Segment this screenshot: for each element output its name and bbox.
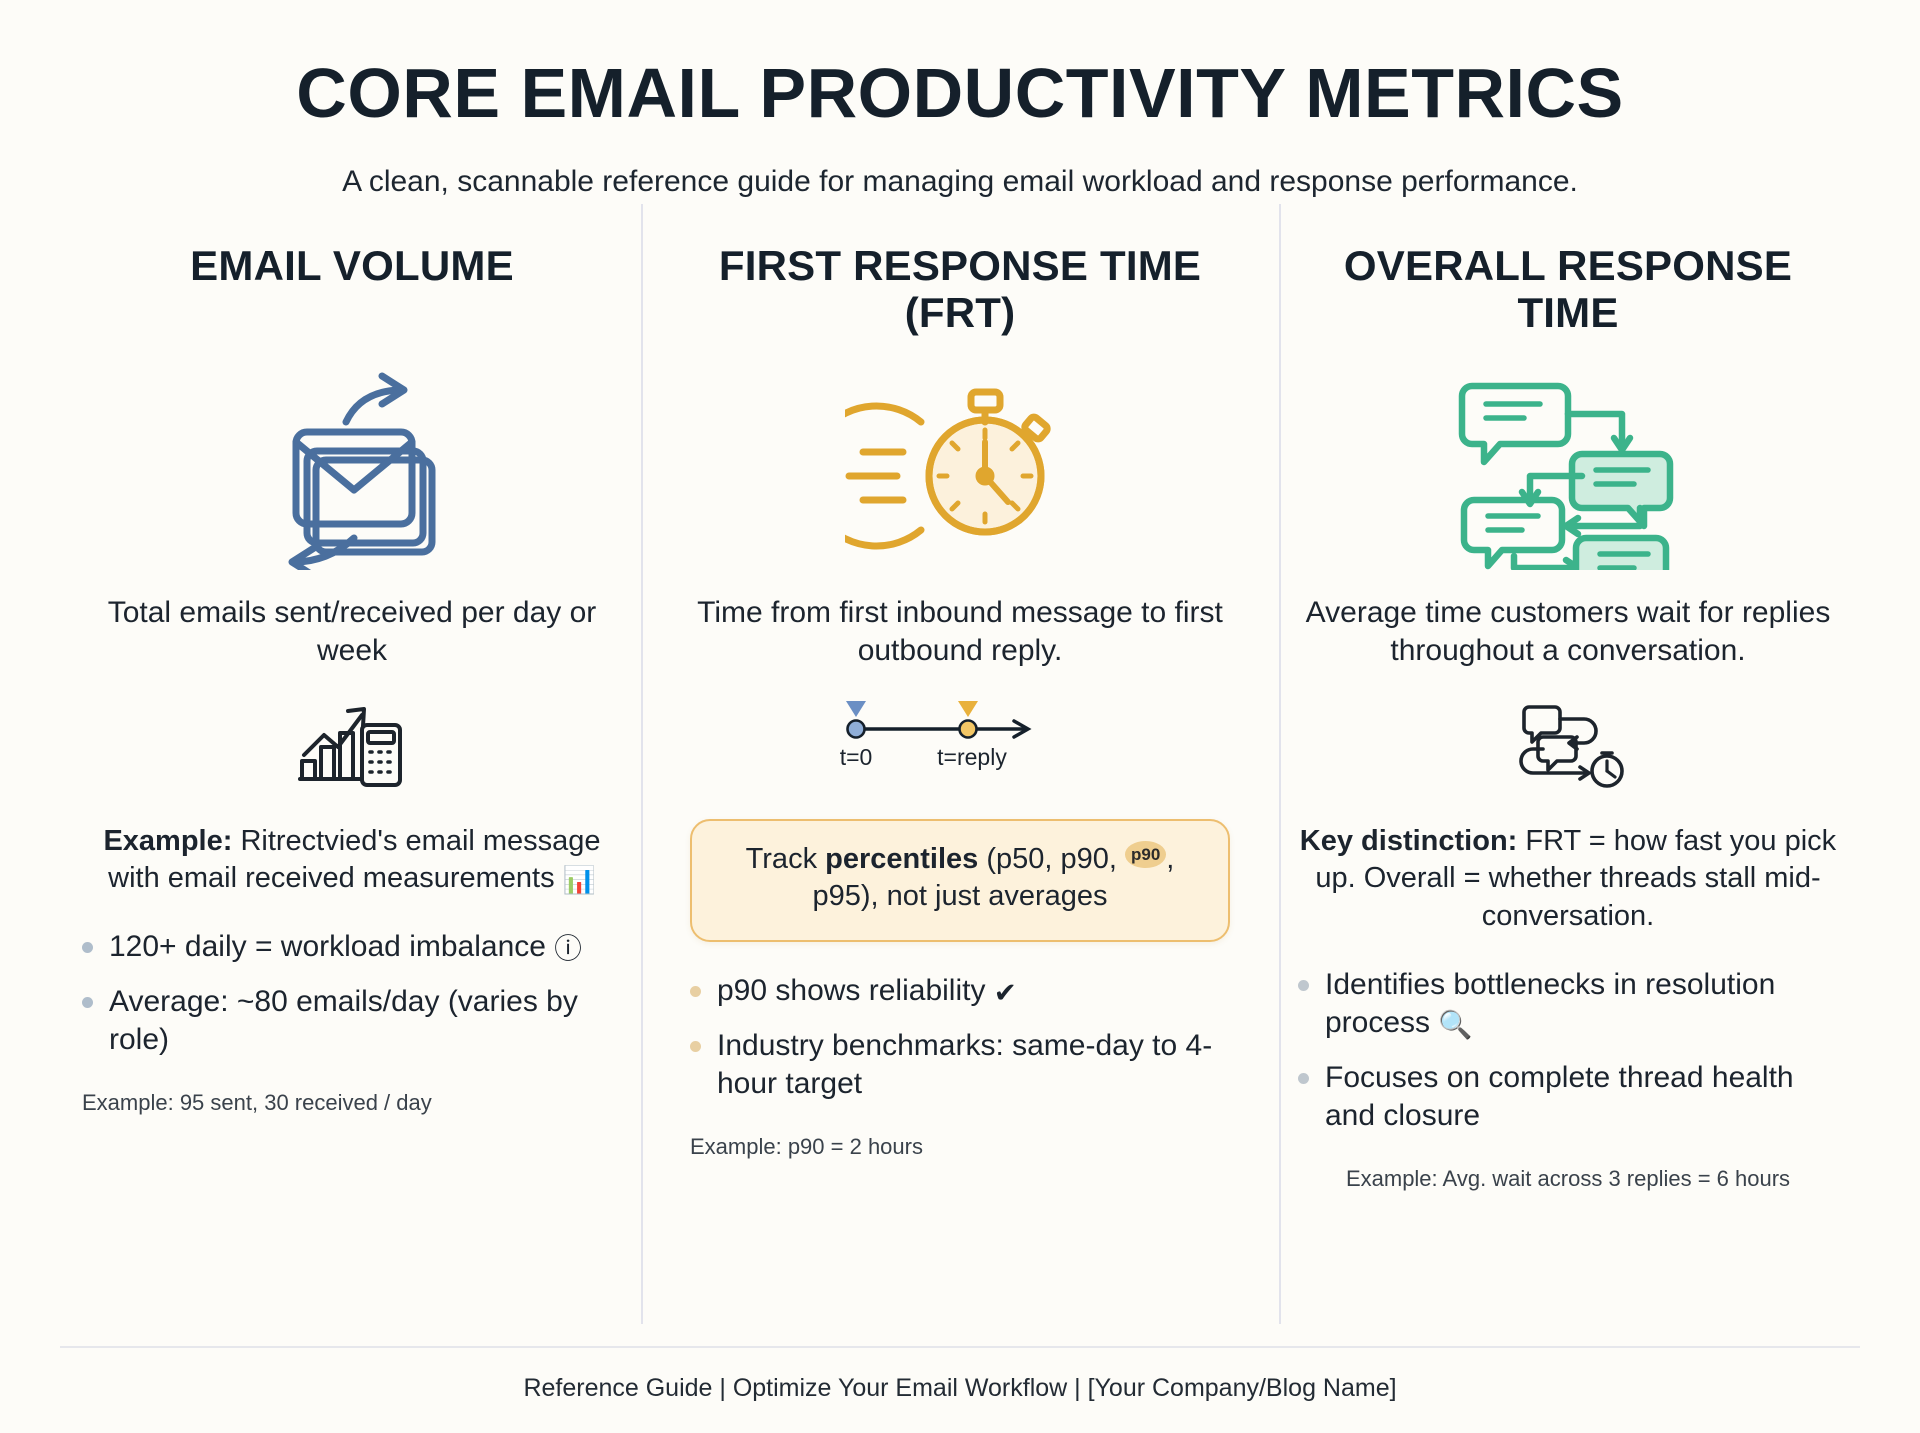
bar-chart-emoji: 📊 (563, 865, 596, 895)
magnifying-glass-icon: 🔍 (1438, 1009, 1472, 1040)
column-title-email-volume: EMAIL VOLUME (82, 242, 622, 348)
list-item: 120+ daily = workload imbalance ⓘ (82, 928, 622, 966)
warning-circle-icon: ⓘ (554, 933, 582, 964)
bullet-text: Industry benchmarks: same-day to 4-hour … (717, 1027, 1230, 1104)
list-item: Industry benchmarks: same-day to 4-hour … (690, 1027, 1230, 1104)
header: CORE EMAIL PRODUCTIVITY METRICS A clean,… (0, 0, 1920, 200)
footer: Reference Guide | Optimize Your Email Wo… (60, 1346, 1860, 1433)
list-item: Focuses on complete thread health and cl… (1298, 1059, 1838, 1136)
stopwatch-motion-icon (690, 356, 1230, 584)
bullet-dot-icon (690, 1041, 701, 1052)
bullet-dot-icon (690, 986, 701, 997)
list-item: Average: ~80 emails/day (varies by role) (82, 983, 622, 1060)
column-overall-response-time: OVERALL RESPONSE TIME (1264, 242, 1872, 1346)
callout-mid: (p50, p90, (978, 843, 1125, 875)
bullet-text: p90 shows reliability (717, 974, 994, 1007)
frt-timeline-diagram: t=0 t=reply (690, 693, 1230, 797)
bullet-dot-icon (82, 942, 93, 953)
example-first-response-time: Example: p90 = 2 hours (690, 1133, 1230, 1161)
page-subtitle: A clean, scannable reference guide for m… (60, 164, 1860, 200)
timeline-start-label: t=0 (840, 744, 873, 770)
metric-columns: EMAIL VOLUME (0, 200, 1920, 1346)
end-marker-triangle-icon (958, 701, 978, 717)
column-description-overall-response-time: Average time customers wait for replies … (1298, 594, 1838, 671)
bullet-dot-icon (82, 997, 93, 1008)
check-mark-icon: ✔ (994, 977, 1017, 1008)
stacked-envelopes-send-receive-icon (82, 356, 622, 584)
column-title-first-response-time: FIRST RESPONSE TIME (FRT) (690, 242, 1230, 348)
example-overall-response-time: Example: Avg. wait across 3 replies = 6 … (1298, 1165, 1838, 1193)
list-item: p90 shows reliability ✔ (690, 972, 1230, 1010)
note-label-email-volume: Example: (103, 825, 232, 857)
note-overall-response-time: Key distinction: FRT = how fast you pick… (1298, 823, 1838, 936)
percentiles-callout: Track percentiles (p50, p90, p90, p95), … (690, 819, 1230, 942)
page-title: CORE EMAIL PRODUCTIVITY METRICS (60, 58, 1860, 128)
note-label-overall-response-time: Key distinction: (1300, 825, 1518, 857)
column-email-volume: EMAIL VOLUME (48, 242, 656, 1346)
bar-chart-calculator-icon (82, 693, 622, 797)
bullet-list-email-volume: 120+ daily = workload imbalance ⓘ Averag… (82, 928, 622, 1075)
bullet-text: Identifies bottlenecks in resolution pro… (1325, 968, 1775, 1039)
column-description-first-response-time: Time from first inbound message to first… (690, 594, 1230, 671)
column-first-response-time: FIRST RESPONSE TIME (FRT) (656, 242, 1264, 1346)
conversation-thread-flow-icon (1298, 356, 1838, 584)
column-description-email-volume: Total emails sent/received per day or we… (82, 594, 622, 671)
timeline-end-label: t=reply (937, 744, 1007, 770)
bullet-list-first-response-time: p90 shows reliability ✔ Industry benchma… (690, 972, 1230, 1119)
bullet-list-overall-response-time: Identifies bottlenecks in resolution pro… (1298, 966, 1838, 1152)
bullet-text: Focuses on complete thread health and cl… (1325, 1059, 1838, 1136)
bullet-text: Average: ~80 emails/day (varies by role) (109, 983, 622, 1060)
callout-prefix: Track (746, 843, 825, 875)
start-marker-triangle-icon (846, 701, 866, 717)
chat-loop-stopwatch-icon (1298, 693, 1838, 797)
example-email-volume: Example: 95 sent, 30 received / day (82, 1089, 622, 1117)
infographic-page: CORE EMAIL PRODUCTIVITY METRICS A clean,… (0, 0, 1920, 1433)
callout-bold: percentiles (825, 843, 978, 875)
column-title-overall-response-time: OVERALL RESPONSE TIME (1298, 242, 1838, 348)
bullet-text: 120+ daily = workload imbalance (109, 930, 554, 963)
bullet-dot-icon (1298, 1073, 1309, 1084)
list-item: Identifies bottlenecks in resolution pro… (1298, 966, 1838, 1043)
note-email-volume: Example: Ritrectvied's email message wit… (82, 823, 622, 898)
bullet-dot-icon (1298, 980, 1309, 991)
p90-badge: p90 (1125, 841, 1166, 868)
